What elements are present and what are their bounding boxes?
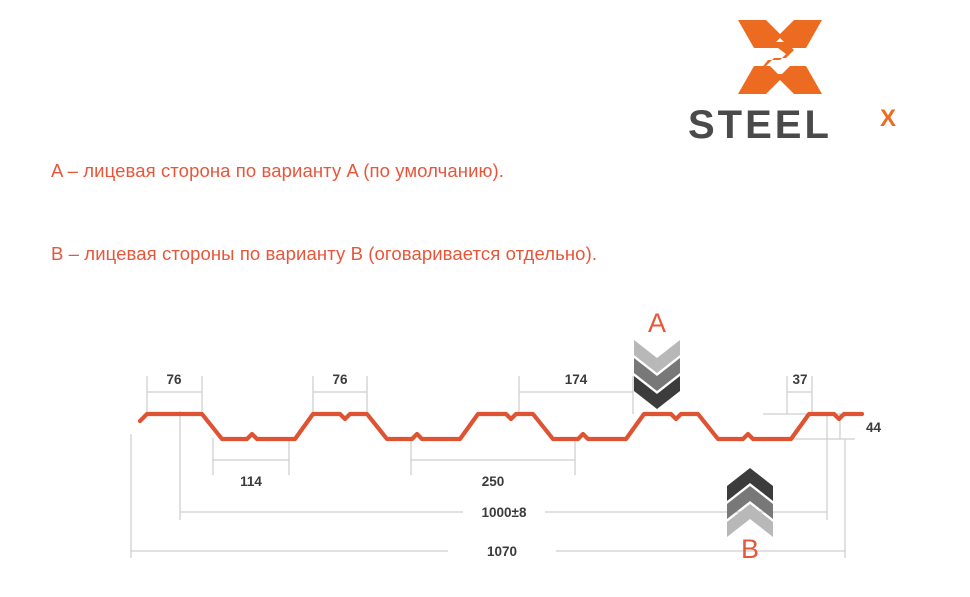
dim-label-76-left: 76 bbox=[166, 372, 182, 387]
dim-label-76-second: 76 bbox=[332, 372, 348, 387]
dim-label-37: 37 bbox=[792, 372, 807, 387]
dim-label-1000: 1000±8 bbox=[482, 505, 527, 520]
dimension-labels-group: 76 76 174 37 114 250 1000±8 1070 44 bbox=[166, 372, 881, 559]
steelx-wordmark: STEEL X bbox=[688, 104, 920, 146]
dim-label-1070: 1070 bbox=[487, 544, 517, 559]
marker-b-letter: B bbox=[741, 534, 759, 564]
marker-b: B bbox=[727, 468, 773, 564]
wordmark-superscript: X bbox=[880, 105, 896, 132]
marker-a-letter: A bbox=[648, 308, 666, 338]
marker-a: A bbox=[634, 308, 680, 409]
dim-label-44: 44 bbox=[866, 420, 882, 435]
dim-label-250: 250 bbox=[482, 474, 505, 489]
caption-variant-b: B – лицевая стороны по варианту B (огова… bbox=[51, 243, 597, 265]
dim-label-114: 114 bbox=[240, 474, 262, 489]
corrugated-profile-path bbox=[140, 414, 862, 439]
wordmark-text: STEEL bbox=[688, 104, 832, 146]
dim-label-174: 174 bbox=[565, 372, 588, 387]
caption-variant-a: A – лицевая сторона по варианту A (по ум… bbox=[51, 160, 504, 182]
steelx-x-mark-icon bbox=[736, 18, 824, 96]
profile-cross-section-drawing: 76 76 174 37 114 250 1000±8 1070 44 A B bbox=[0, 290, 970, 590]
steelx-logo: STEEL X bbox=[688, 18, 920, 146]
dimension-lines-group bbox=[131, 376, 855, 558]
